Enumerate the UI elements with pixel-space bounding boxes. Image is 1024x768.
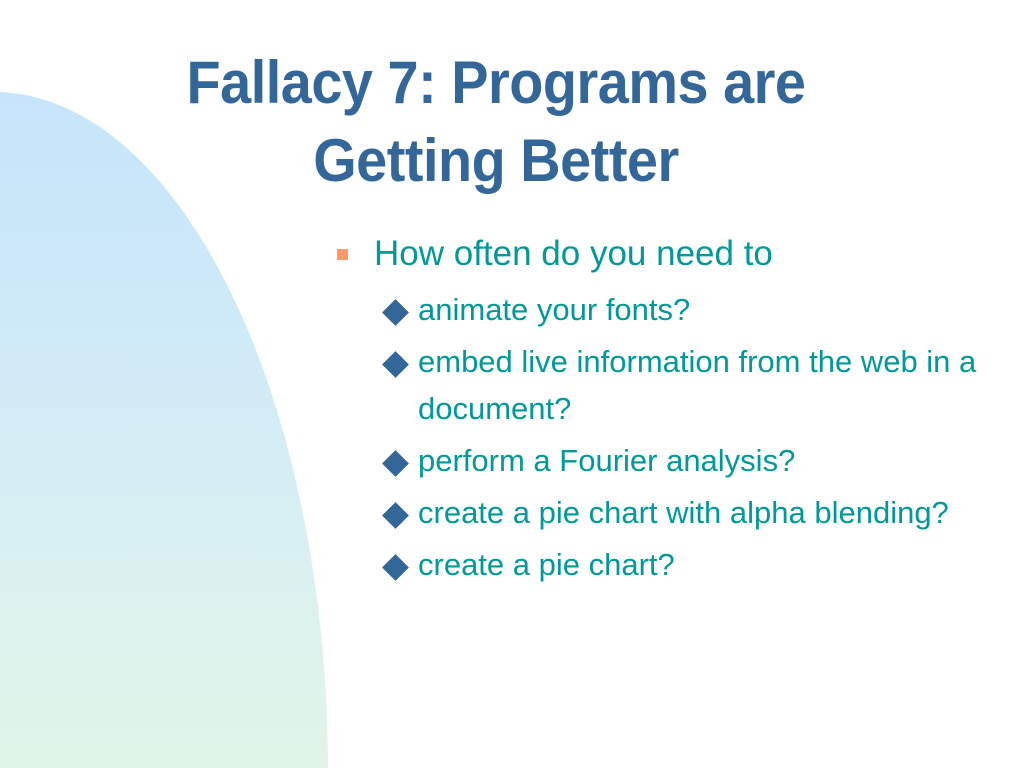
bullet-level2-label: perform a Fourier analysis? bbox=[418, 437, 978, 484]
diamond-bullet-icon bbox=[382, 502, 409, 529]
bullet-level2-label: create a pie chart with alpha blending? bbox=[418, 489, 978, 536]
bullet-level2: animate your fonts? bbox=[330, 286, 978, 333]
slide-body-content: How often do you need to animate your fo… bbox=[330, 228, 978, 593]
bullet-level2-label: embed live information from the web in a… bbox=[418, 338, 978, 432]
bullet-level2-list: animate your fonts? embed live informati… bbox=[330, 286, 978, 588]
bullet-level1: How often do you need to bbox=[330, 228, 978, 280]
bullet-level2-label: animate your fonts? bbox=[418, 286, 978, 333]
diamond-bullet-icon bbox=[382, 299, 409, 326]
bullet-level1-label: How often do you need to bbox=[374, 228, 978, 280]
diamond-bullet-icon bbox=[382, 351, 409, 378]
diamond-bullet-icon bbox=[382, 554, 409, 581]
bullet-level2: perform a Fourier analysis? bbox=[330, 437, 978, 484]
slide-title: Fallacy 7: Programs are Getting Better bbox=[56, 44, 936, 200]
bullet-level2: create a pie chart with alpha blending? bbox=[330, 489, 978, 536]
diamond-bullet-icon bbox=[382, 450, 409, 477]
bullet-level2: embed live information from the web in a… bbox=[330, 338, 978, 432]
slide-title-text: Fallacy 7: Programs are Getting Better bbox=[87, 44, 905, 200]
bullet-level2: create a pie chart? bbox=[330, 541, 978, 588]
presentation-slide: Fallacy 7: Programs are Getting Better H… bbox=[0, 0, 1024, 768]
square-bullet-icon bbox=[337, 249, 348, 260]
bullet-level2-label: create a pie chart? bbox=[418, 541, 978, 588]
